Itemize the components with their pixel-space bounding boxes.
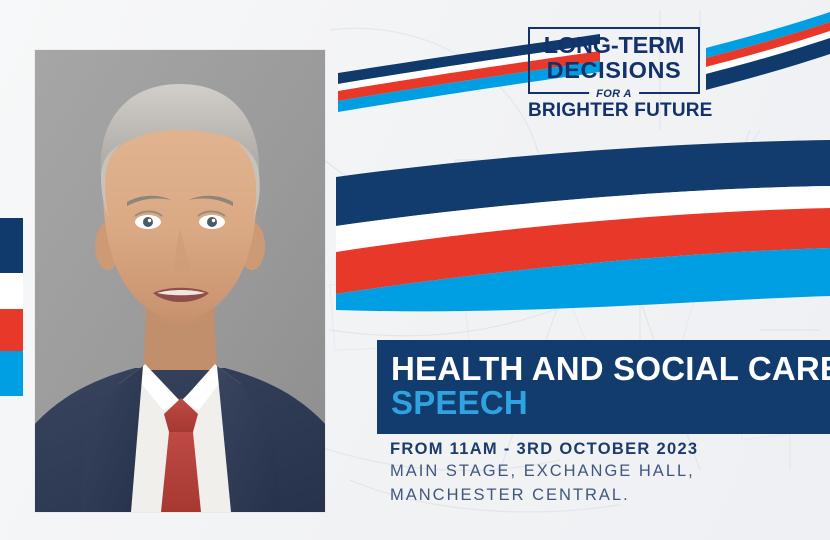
logo-line-3: BRIGHTER FUTURE	[528, 101, 700, 120]
headline-band: HEALTH AND SOCIAL CARE SPEECH	[377, 340, 830, 434]
event-venue-line-2: MANCHESTER CENTRAL.	[390, 484, 820, 508]
logo-connector: FOR A	[589, 89, 639, 100]
campaign-logo: LONG-TERM DECISIONS FOR A BRIGHTER FUTUR…	[528, 27, 700, 120]
flag-bar-white	[0, 273, 23, 309]
logo-line-2: DECISIONS	[537, 58, 691, 83]
headline-subtitle: SPEECH	[391, 385, 830, 422]
flag-bar-navy	[0, 218, 23, 273]
logo-box: LONG-TERM DECISIONS FOR A	[528, 27, 700, 94]
flag-bar-blue	[0, 351, 23, 396]
headline-title: HEALTH AND SOCIAL CARE	[391, 352, 830, 385]
flag-bar-red	[0, 309, 23, 352]
event-details: FROM 11AM - 3RD OCTOBER 2023 MAIN STAGE,…	[390, 438, 820, 508]
left-edge-flag-bars	[0, 218, 23, 396]
speaker-portrait	[35, 50, 325, 512]
poster-canvas: LONG-TERM DECISIONS FOR A BRIGHTER FUTUR…	[0, 0, 830, 540]
event-date-time: FROM 11AM - 3RD OCTOBER 2023	[390, 438, 820, 460]
logo-line-1: LONG-TERM	[537, 34, 691, 58]
event-venue-line-1: MAIN STAGE, EXCHANGE HALL,	[390, 460, 820, 484]
